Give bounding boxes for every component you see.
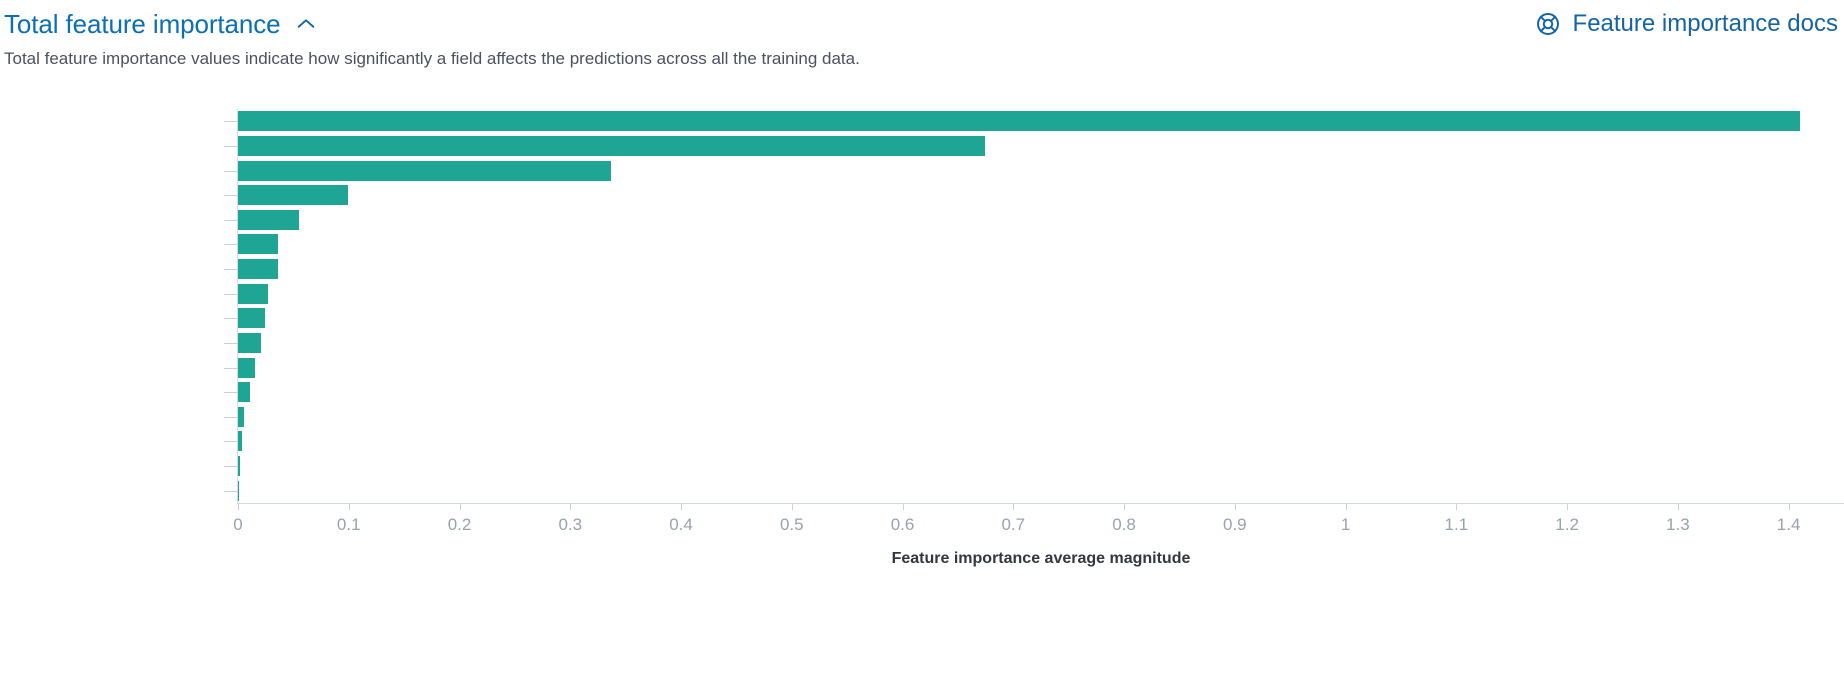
y-axis-tick [224,220,237,221]
bar[interactable] [238,407,244,427]
x-axis-tick-label: 0 [233,515,242,535]
bar[interactable] [238,333,261,353]
x-axis-tick [1567,503,1568,510]
bar[interactable] [238,481,239,501]
panel-description: Total feature importance values indicate… [4,48,860,70]
y-axis-tick [224,417,237,418]
x-axis-tick [1346,503,1347,510]
y-axis-tick [224,343,237,344]
bar[interactable] [238,431,242,451]
x-axis-tick-label: 0.2 [448,515,472,535]
bar[interactable] [238,234,278,254]
x-axis-tick-label: 0.8 [1112,515,1136,535]
bar[interactable] [238,111,1800,131]
total-feature-importance-toggle[interactable]: Total feature importance [4,9,317,40]
x-axis-tick [792,503,793,510]
bar[interactable] [238,259,278,279]
x-axis-tick-label: 1.3 [1666,515,1690,535]
feature-importance-docs-link[interactable]: Feature importance docs [1535,10,1840,38]
bar[interactable] [238,358,255,378]
chevron-up-icon[interactable] [295,13,317,35]
help-life-ring-icon [1535,11,1561,37]
x-axis-tick-label: 0.7 [1001,515,1025,535]
x-axis-tick-label: 1 [1341,515,1350,535]
bar[interactable] [238,456,240,476]
x-axis-tick-label: 1.1 [1445,515,1469,535]
x-axis-tick-label: 1.2 [1555,515,1579,535]
page-title: Total feature importance [4,9,281,40]
x-axis-tick [903,503,904,510]
y-axis-tick [224,195,237,196]
docs-link-label: Feature importance docs [1573,10,1838,38]
bar[interactable] [238,136,985,156]
y-axis-tick [224,171,237,172]
y-axis-tick [224,244,237,245]
feature-importance-chart: FlightTimeMinDistanceMilesDistanceKilome… [0,95,1844,680]
x-axis-tick [1678,503,1679,510]
y-axis-tick [224,121,237,122]
x-axis-line [237,503,1844,504]
x-axis-tick-label: 1.4 [1777,515,1801,535]
y-axis-tick [224,491,237,492]
plot-area: FlightTimeMinDistanceMilesDistanceKilome… [238,109,1844,503]
bar[interactable] [238,284,268,304]
y-axis-tick [224,392,237,393]
bar[interactable] [238,382,250,402]
x-axis-tick [1456,503,1457,510]
bar[interactable] [238,161,611,181]
x-axis-tick-label: 0.4 [669,515,693,535]
bar[interactable] [238,210,299,230]
y-axis-tick [224,294,237,295]
x-axis-tick-label: 0.9 [1223,515,1247,535]
x-axis-tick [349,503,350,510]
x-axis-tick-label: 0.6 [891,515,915,535]
bar[interactable] [238,185,348,205]
x-axis-tick-label: 0.1 [337,515,361,535]
x-axis-tick [1235,503,1236,510]
y-axis-tick [224,318,237,319]
panel-header: Total feature importance Feature importa… [0,0,1844,48]
y-axis-tick [224,146,237,147]
x-axis-tick [681,503,682,510]
x-axis-tick [1789,503,1790,510]
x-axis-tick-label: 0.5 [780,515,804,535]
x-axis-tick-label: 0.3 [558,515,582,535]
x-axis-tick [1124,503,1125,510]
bar[interactable] [238,308,265,328]
x-axis-tick [238,503,239,510]
y-axis-tick [224,441,237,442]
y-axis-tick [224,466,237,467]
x-axis-tick [1013,503,1014,510]
y-axis-tick [224,368,237,369]
x-axis-tick [570,503,571,510]
x-axis-tick [460,503,461,510]
y-axis-tick [224,269,237,270]
x-axis-title: Feature importance average magnitude [238,550,1844,568]
